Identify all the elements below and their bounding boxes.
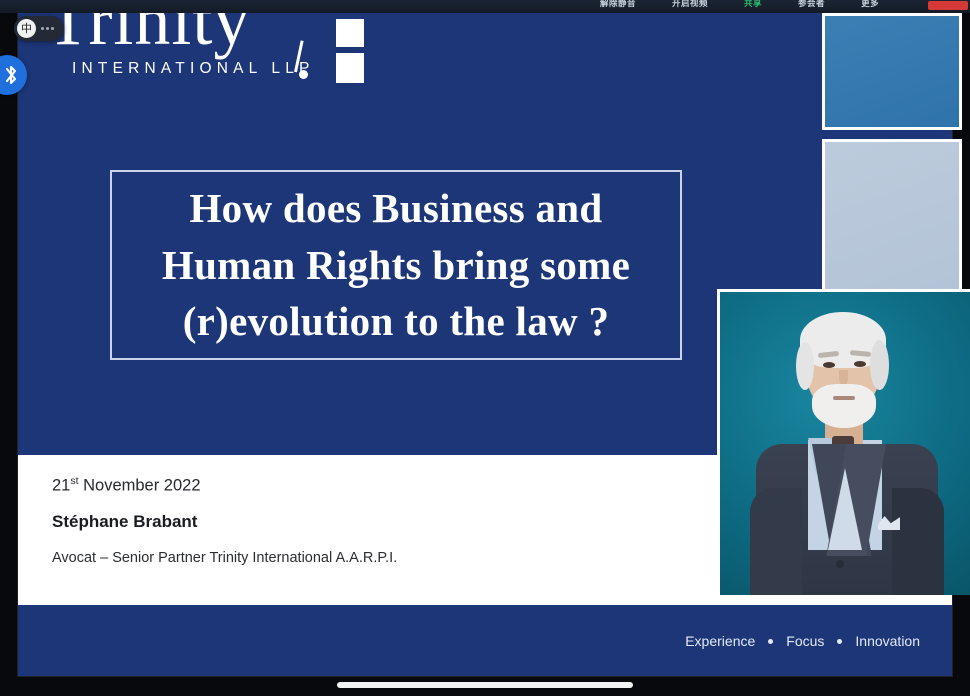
leave-meeting-button[interactable] [928,1,968,10]
presenter-arm-left [750,488,802,595]
presenter-hair-left [796,342,814,390]
toolbar-share-button[interactable]: 共享 [744,0,762,10]
slide-footer-panel: Experience Focus Innovation [18,605,952,676]
meeting-toolbar: 解除静音 开启视频 共享 参会者 更多 [0,0,970,13]
tagline-focus: Focus [786,633,824,649]
slide-title-box: How does Business and Human Rights bring… [110,170,682,360]
toolbar-start-video-button[interactable]: 开启视频 [672,0,708,10]
trinity-logo: Trinity INTERNATIONAL LLP [46,0,376,93]
slide-title-line-2: Human Rights bring some [162,237,630,294]
toolbar-unmute-button[interactable]: 解除静音 [600,0,636,10]
tagline-separator-dot-1 [768,639,773,644]
meeting-toolbar-items: 解除静音 开启视频 共享 参会者 更多 [600,0,915,13]
logo-square-mark [336,4,364,84]
logo-mark-bar-3 [336,53,364,83]
logo-dot [299,70,308,79]
tagline-separator-dot-2 [837,639,842,644]
presentation-date: 21st November 2022 [52,475,397,496]
footer-tagline: Experience Focus Innovation [685,633,920,649]
participant-thumbnail-2[interactable] [822,139,962,294]
tagline-experience: Experience [685,633,755,649]
slide-title-line-1: How does Business and [189,180,602,237]
date-suffix: st [70,475,78,487]
toolbar-participants-button[interactable]: 参会者 [798,0,825,10]
toolbar-more-button[interactable]: 更多 [861,0,879,10]
logo-mark-bar-2 [336,19,364,47]
meeting-screen: 解除静音 开启视频 共享 参会者 更多 Trinity INTERNATIONA… [0,0,970,696]
speaker-name: Stéphane Brabant [52,512,397,532]
presenter-mouth [833,396,855,400]
presenter-eye-right [854,361,866,367]
presenter-eye-left [823,362,835,368]
slide-title-line-3: (r)evolution to the law ? [183,293,610,350]
presenter-arm-right [892,488,944,595]
participant-thumbnail-1[interactable] [822,13,962,130]
more-options-icon[interactable] [41,27,54,30]
date-number: 21 [52,477,70,495]
presenter-beard [812,384,876,428]
ime-language-icon[interactable]: 中 [17,19,36,38]
date-rest: November 2022 [79,477,201,495]
floating-ime-pill[interactable]: 中 [14,16,64,41]
slide-info-block: 21st November 2022 Stéphane Brabant Avoc… [52,475,397,566]
logo-subtitle: INTERNATIONAL LLP [72,60,315,78]
home-indicator[interactable] [337,682,633,688]
active-speaker-video[interactable] [717,289,970,595]
presenter-hair-right [870,340,889,390]
presenter-jacket-button [836,560,844,568]
tagline-innovation: Innovation [855,633,920,649]
slide-title-inner: How does Business and Human Rights bring… [116,176,676,354]
speaker-role: Avocat – Senior Partner Trinity Internat… [52,550,397,566]
